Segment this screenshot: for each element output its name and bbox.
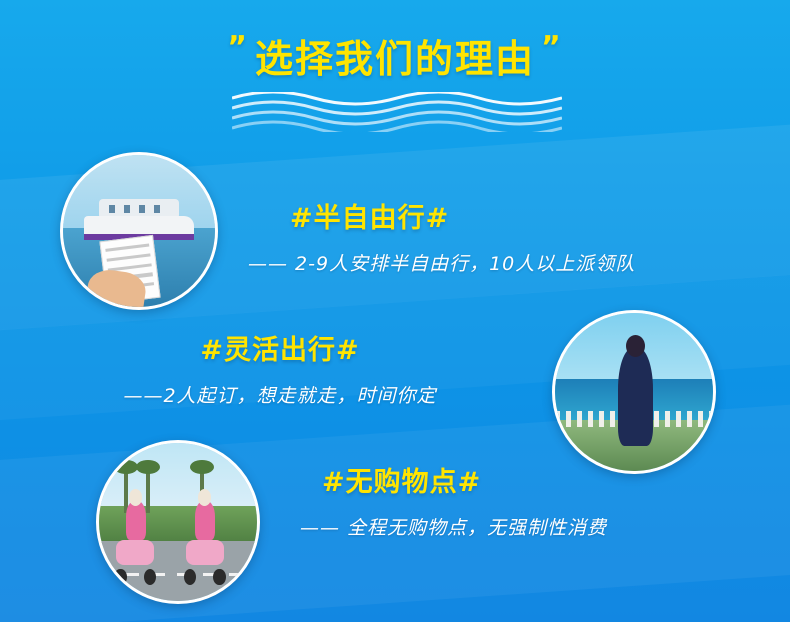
quote-left-icon: ” [227,30,249,65]
photo-scooter-riders [96,440,260,604]
feature-subtitle-3: —— 全程无购物点，无强制性消费 [300,513,780,540]
wave-divider-icon [232,92,562,132]
feature-text-2: #灵活出行# ——2人起订，想走就走，时间你定 [30,328,530,408]
feature-row-3: #无购物点# —— 全程无购物点，无强制性消费 [0,440,790,590]
feature-heading-1: #半自由行# [290,196,768,235]
poster-root: ”选择我们的理由” [0,0,790,622]
feature-subtitle-1: —— 2-9人安排半自由行，10人以上派领队 [248,249,768,276]
feature-subtitle-2: ——2人起订，想走就走，时间你定 [30,381,530,408]
feature-row-1: #半自由行# —— 2-9人安排半自由行，10人以上派领队 [0,152,790,302]
poster-title: ”选择我们的理由” [0,28,790,83]
quote-right-icon: ” [541,30,563,65]
poster-title-line: ”选择我们的理由” [227,28,562,83]
feature-row-2: #灵活出行# ——2人起订，想走就走，时间你定 [0,300,790,450]
feature-text-3: #无购物点# —— 全程无购物点，无强制性消费 [280,460,780,540]
poster-title-text: 选择我们的理由 [255,37,535,81]
feature-heading-2: #灵活出行# [30,328,530,367]
photo-ferry-ticket [60,152,218,310]
feature-heading-3: #无购物点# [322,460,780,499]
feature-text-1: #半自由行# —— 2-9人安排半自由行，10人以上派领队 [248,196,768,276]
